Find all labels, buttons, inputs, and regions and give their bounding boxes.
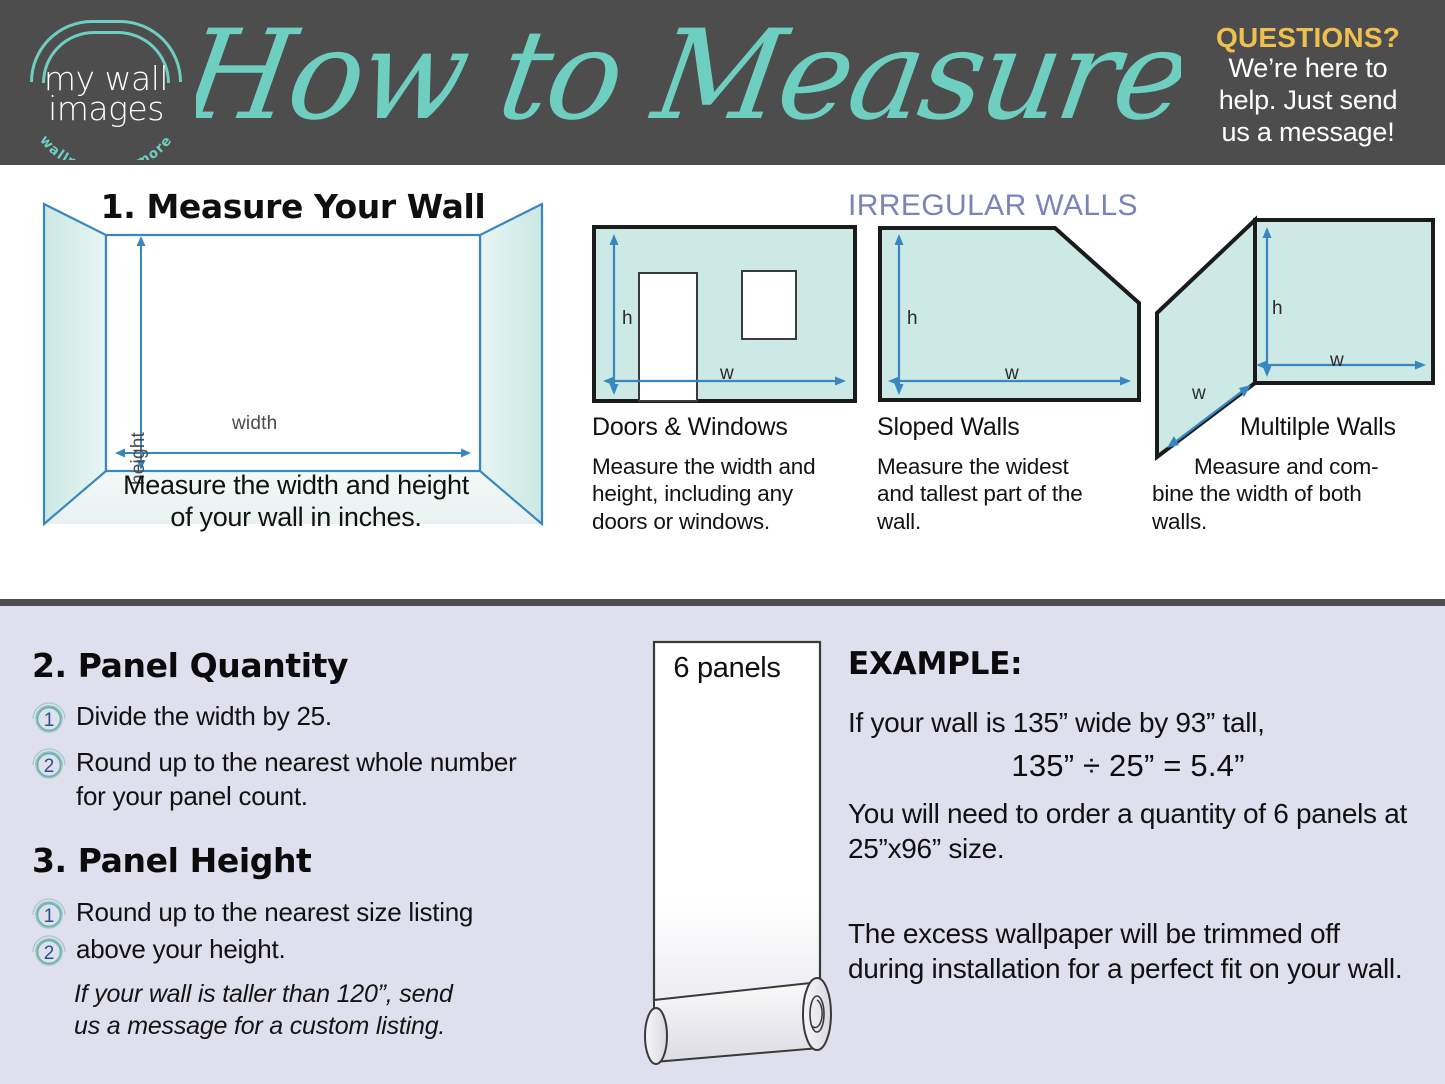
sloped-walls-w-label: w — [1005, 363, 1019, 385]
svg-text:wallpaper + more: wallpaper + more — [36, 132, 175, 160]
questions-line-3: us a message! — [1183, 117, 1433, 149]
step-3-title: 3. Panel Height — [32, 841, 311, 880]
doors-windows-w-label: w — [720, 363, 734, 385]
step-3-note-line-2: us a message for a custom listing. — [74, 1010, 564, 1042]
sloped-walls-desc-line-3: wall. — [877, 508, 1145, 535]
page-title: How to Measure & Order — [196, 6, 1181, 156]
wall-caption-line-2: of your wall in inches. — [28, 502, 564, 534]
bullet-circle-icon: 1 — [30, 700, 68, 738]
brand-logo[interactable]: my wall images wallpaper + more — [16, 18, 196, 150]
measure-section: 1. Measure Your Wall height width Measur… — [0, 165, 1445, 603]
step-3-bullet-2-text: above your height. — [76, 933, 285, 967]
order-section: 2. Panel Quantity 1 Divide the width by … — [0, 606, 1445, 1084]
wall-caption: Measure the width and height of your wal… — [28, 470, 564, 534]
step-2-bullet-1-text: Divide the width by 25. — [76, 700, 332, 734]
questions-line-1: We’re here to — [1183, 53, 1433, 85]
questions-block: QUESTIONS? We’re here to help. Just send… — [1183, 22, 1433, 149]
step-2-title: 2. Panel Quantity — [32, 646, 348, 685]
doors-windows-title: Doors & Windows — [592, 413, 788, 442]
doors-windows-desc-line-3: doors or windows. — [592, 508, 860, 535]
step-1-title: 1. Measure Your Wall — [8, 187, 578, 226]
multiple-walls-desc-line-3: walls. — [1152, 508, 1442, 535]
example-line-1: If your wall is 135” wide by 93” tall, — [848, 706, 1428, 740]
doors-windows-desc: Measure the width and height, including … — [592, 453, 860, 535]
multiple-walls-h-label: h — [1272, 298, 1283, 320]
sloped-walls-title: Sloped Walls — [877, 413, 1020, 442]
multiple-walls-desc-line-2: bine the width of both — [1152, 480, 1442, 507]
step-2-bullet-2-text: Round up to the nearest whole number for… — [76, 746, 540, 814]
doors-windows-desc-line-1: Measure the width and — [592, 453, 860, 480]
sloped-walls-desc-line-2: and tallest part of the — [877, 480, 1145, 507]
bullet-number: 1 — [44, 710, 55, 731]
bullet-number: 1 — [44, 906, 55, 927]
bullet-number: 2 — [44, 943, 55, 964]
example-line-3: The excess wallpaper will be trimmed off… — [848, 916, 1413, 987]
page-header: my wall images wallpaper + more How to M… — [0, 0, 1445, 165]
example-line-2: You will need to order a quantity of 6 p… — [848, 796, 1413, 867]
bullet-circle-icon: 1 — [30, 896, 68, 934]
sloped-walls-desc: Measure the widest and tallest part of t… — [877, 453, 1145, 535]
multiple-walls-w-label-front: w — [1330, 350, 1344, 372]
width-label: width — [232, 413, 277, 435]
logo-tagline-text: wallpaper + more — [36, 132, 175, 160]
step-3-note-line-1: If your wall is taller than 120”, send — [74, 978, 564, 1010]
example-title: EXAMPLE: — [848, 646, 1022, 682]
page-title-text: How to Measure & Order — [196, 6, 1181, 148]
bullet-number: 2 — [44, 756, 55, 777]
questions-heading: QUESTIONS? — [1183, 22, 1433, 53]
logo-line-2: images — [16, 92, 196, 125]
wallpaper-roll-icon — [632, 638, 850, 1078]
irregular-walls-heading: IRREGULAR WALLS — [848, 189, 1138, 223]
step-3-note: If your wall is taller than 120”, send u… — [74, 978, 564, 1042]
wall-caption-line-1: Measure the width and height — [28, 470, 564, 502]
multiple-walls-w-label-side: w — [1192, 383, 1206, 405]
example-equation: 135” ÷ 25” = 5.4” — [848, 748, 1408, 784]
multiple-walls-desc: Measure and com- bine the width of both … — [1152, 453, 1442, 535]
questions-line-2: help. Just send — [1183, 85, 1433, 117]
multiple-walls-desc-line-1: Measure and com- — [1152, 453, 1442, 480]
section-divider — [0, 599, 1445, 606]
step-3-bullet-1-text: Round up to the nearest size listing — [76, 896, 473, 930]
bullet-circle-icon: 2 — [30, 933, 68, 971]
roll-panel-count-label: 6 panels — [632, 652, 822, 685]
sloped-walls-desc-line-1: Measure the widest — [877, 453, 1145, 480]
doors-windows-desc-line-2: height, including any — [592, 480, 860, 507]
bullet-circle-icon: 2 — [30, 746, 68, 784]
sloped-walls-h-label: h — [907, 308, 918, 330]
logo-tagline: wallpaper + more — [16, 126, 196, 160]
multiple-walls-title: Multilple Walls — [1240, 413, 1396, 442]
doors-windows-h-label: h — [622, 308, 633, 330]
